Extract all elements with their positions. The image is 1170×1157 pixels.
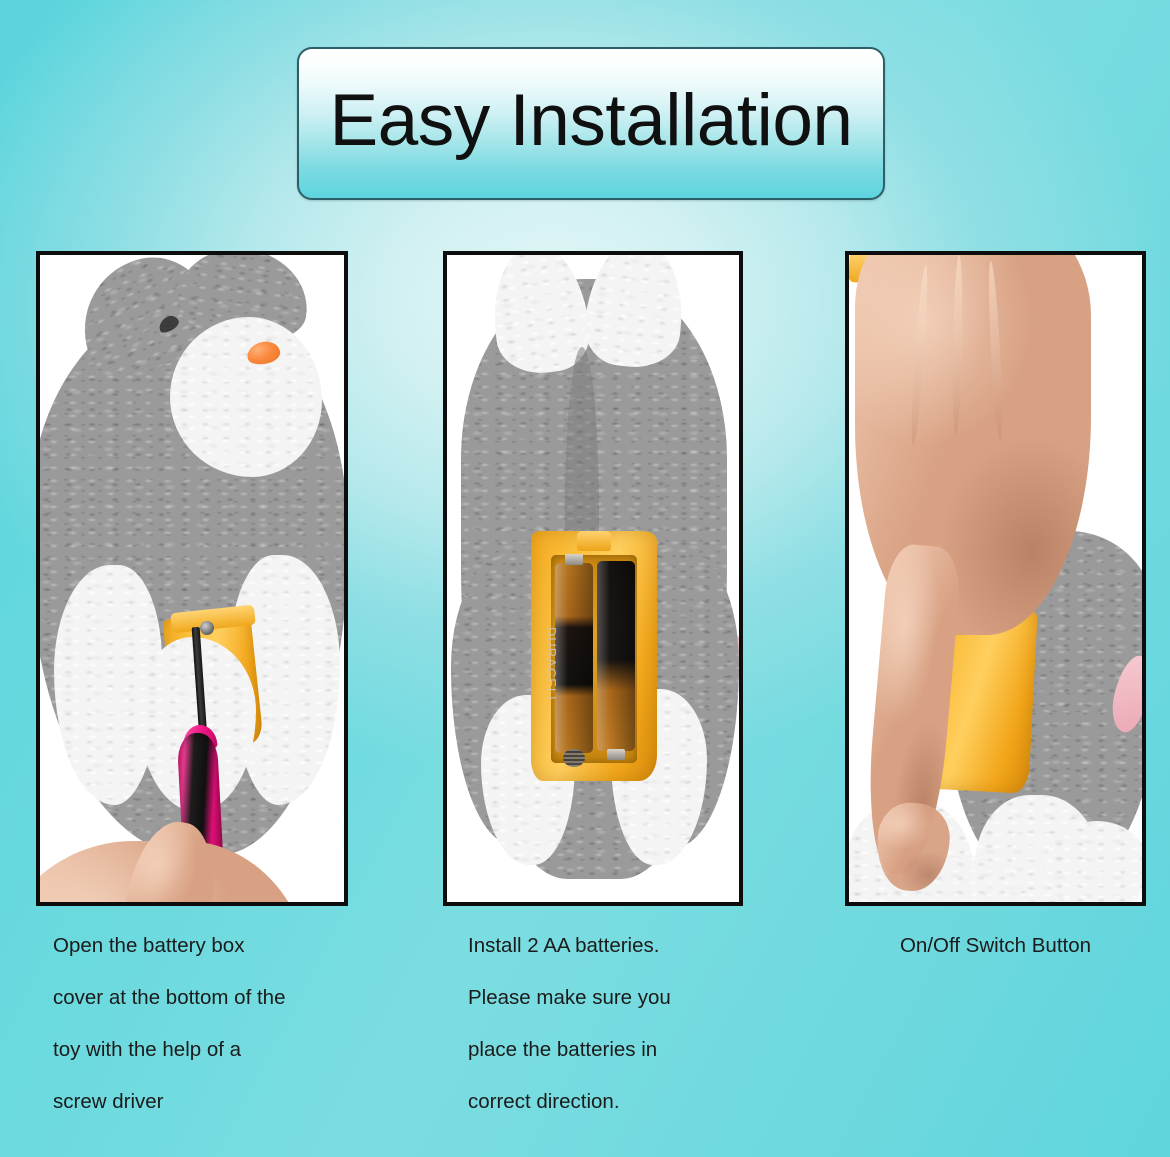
caption-line: Install 2 AA batteries. (468, 920, 758, 972)
title-banner: Easy Installation (297, 47, 885, 200)
step-photo-panel-2: DURACELL (443, 251, 743, 906)
easy-installation-poster: Easy Installation (0, 0, 1170, 1157)
battery-positive-terminal-2 (607, 749, 625, 760)
caption-line: Open the battery box (53, 920, 353, 972)
caption-line: screw driver (53, 1076, 353, 1128)
photo-onoff-switch (849, 255, 1142, 902)
caption-line: place the batteries in (468, 1024, 758, 1076)
photo-open-battery-cover (40, 255, 344, 902)
battery-aa-1 (555, 563, 593, 753)
battery-cover-tab (577, 531, 611, 551)
caption-line: On/Off Switch Button (845, 920, 1146, 972)
battery-positive-terminal-1 (565, 554, 583, 565)
plush-toy-face-patch (170, 317, 322, 477)
photo-install-batteries: DURACELL (447, 255, 739, 902)
battery-aa-2 (597, 561, 635, 751)
step-photo-panel-1 (36, 251, 348, 906)
cover-screw (200, 621, 214, 635)
caption-line: Please make sure you (468, 972, 758, 1024)
caption-line: toy with the help of a (53, 1024, 353, 1076)
step-caption-3: On/Off Switch Button (845, 920, 1146, 972)
step-caption-2: Install 2 AA batteries. Please make sure… (468, 920, 758, 1128)
step-caption-1: Open the battery box cover at the bottom… (53, 920, 353, 1128)
battery-brand-label: DURACELL (544, 627, 559, 657)
battery-contact-spring (563, 749, 585, 767)
step-photo-panel-3 (845, 251, 1146, 906)
caption-line: cover at the bottom of the (53, 972, 353, 1024)
page-title: Easy Installation (329, 84, 852, 163)
caption-line: correct direction. (468, 1076, 758, 1128)
